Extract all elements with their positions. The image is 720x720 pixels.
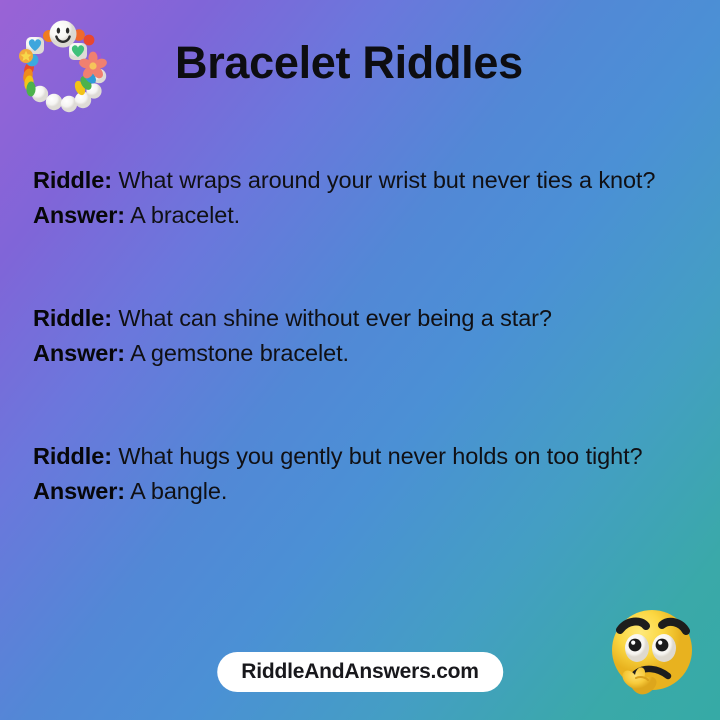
riddle-block: Riddle: What wraps around your wrist but… [33, 163, 693, 233]
riddle-answer-text: A gemstone bracelet. [130, 340, 349, 366]
header: Bracelet Riddles [0, 0, 720, 130]
riddle-question-line: Riddle: What wraps around your wrist but… [33, 163, 693, 198]
riddle-question-text: What wraps around your wrist but never t… [118, 167, 655, 193]
riddle-answer-text: A bracelet. [130, 202, 240, 228]
answer-label: Answer: [33, 478, 125, 504]
bracelet-star-bead [19, 49, 33, 63]
riddle-list: Riddle: What wraps around your wrist but… [33, 163, 693, 509]
site-badge[interactable]: RiddleAndAnswers.com [217, 652, 503, 692]
page-title: Bracelet Riddles [175, 36, 523, 90]
riddle-block: Riddle: What can shine without ever bein… [33, 301, 693, 371]
riddle-answer-line: Answer: A bangle. [33, 474, 693, 509]
riddle-question-line: Riddle: What hugs you gently but never h… [33, 439, 693, 474]
riddle-question-line: Riddle: What can shine without ever bein… [33, 301, 693, 336]
riddle-label: Riddle: [33, 443, 112, 469]
site-badge-label: RiddleAndAnswers.com [241, 660, 479, 684]
riddle-block: Riddle: What hugs you gently but never h… [33, 439, 693, 509]
riddle-label: Riddle: [33, 167, 112, 193]
answer-label: Answer: [33, 202, 125, 228]
riddle-answer-line: Answer: A gemstone bracelet. [33, 336, 693, 371]
bracelet-smiley-bead [50, 21, 77, 48]
riddle-question-text: What can shine without ever being a star… [118, 305, 552, 331]
riddle-answer-text: A bangle. [130, 478, 227, 504]
riddle-answer-line: Answer: A bracelet. [33, 198, 693, 233]
thinking-face-emoji [596, 600, 708, 712]
riddle-question-text: What hugs you gently but never holds on … [118, 443, 642, 469]
riddle-label: Riddle: [33, 305, 112, 331]
answer-label: Answer: [33, 340, 125, 366]
beaded-bracelet-icon [16, 18, 124, 118]
